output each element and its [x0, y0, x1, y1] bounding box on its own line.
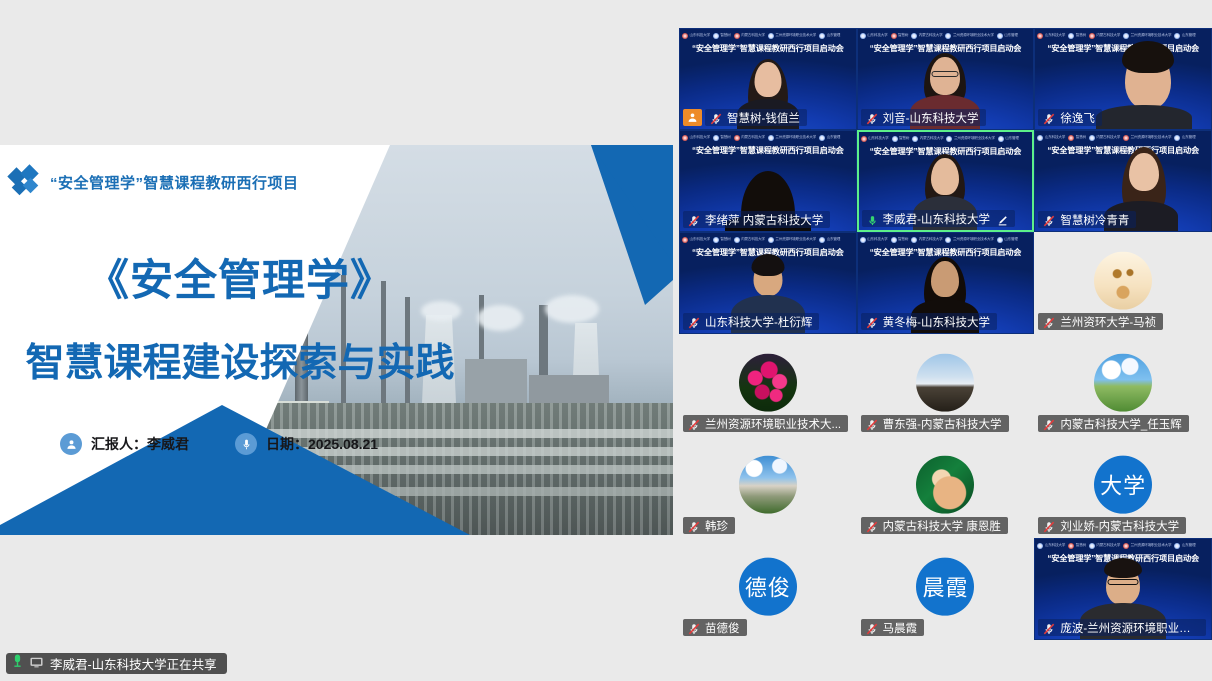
- vb-logo-mark: 山东科技大学: [1037, 33, 1065, 39]
- participant-tile[interactable]: 韩珍: [679, 436, 857, 538]
- participant-name: 李威君-山东科技大学: [883, 211, 990, 227]
- vb-logo-mark: 内蒙古科技大学: [911, 33, 942, 39]
- participant-tile[interactable]: 山东科技大学智慧树内蒙古科技大学兰州资源环境职业技术大学山东管理 “安全管理学”…: [857, 232, 1035, 334]
- vb-logo-mark: 山东科技大学: [861, 136, 889, 142]
- participant-tile[interactable]: 大学 刘业娇-内蒙古科技大学: [1034, 436, 1212, 538]
- participant-name: 徐逸飞: [1060, 110, 1095, 126]
- participant-name-label: 智慧树-钱值兰: [705, 109, 807, 126]
- microphone-muted-icon: [866, 520, 878, 532]
- microphone-muted-icon: [866, 316, 878, 328]
- microphone-muted-icon: [1043, 520, 1055, 532]
- slide-meta-row: 汇报人：李威君 日期：2025.08.21: [60, 433, 378, 455]
- participant-name-label: 山东科技大学-杜衍辉: [683, 313, 819, 330]
- vb-logo-mark: 智慧树: [891, 33, 909, 39]
- participant-tile[interactable]: 山东科技大学智慧树内蒙古科技大学兰州资源环境职业技术大学山东管理 “安全管理学”…: [679, 130, 857, 232]
- host-badge-icon: [683, 109, 702, 126]
- participant-name-label: 庞波-兰州资源环境职业技术大学: [1038, 619, 1206, 636]
- vb-logo-mark: 山东管理: [998, 136, 1019, 142]
- participant-name-label: 刘音-山东科技大学: [861, 109, 986, 126]
- avatar-image: [1094, 354, 1152, 412]
- microphone-muted-icon: [710, 112, 722, 124]
- avatar: 大学: [1094, 456, 1152, 514]
- avatar: [916, 456, 974, 514]
- participant-name: 韩珍: [705, 518, 728, 534]
- microphone-icon: [235, 433, 257, 455]
- participant-name: 曹东强-内蒙古科技大学: [883, 416, 1002, 432]
- avatar: 德俊: [739, 558, 797, 616]
- microphone-muted-icon: [688, 520, 700, 532]
- vb-logo-strip: 山东科技大学智慧树内蒙古科技大学兰州资源环境职业技术大学山东管理: [860, 31, 1032, 40]
- participant-name: 内蒙古科技大学_任玉辉: [1060, 416, 1181, 432]
- vb-logo-mark: 山东管理: [997, 237, 1018, 243]
- participant-tile[interactable]: 兰州资环大学-马祯: [1034, 232, 1212, 334]
- vb-logo-strip: 山东科技大学智慧树内蒙古科技大学兰州资源环境职业技术大学山东管理: [682, 31, 854, 40]
- avatar-image: [916, 456, 974, 514]
- participant-video-grid[interactable]: 山东科技大学智慧树内蒙古科技大学兰州资源环境职业技术大学山东管理 “安全管理学”…: [679, 0, 1212, 681]
- microphone-muted-icon: [866, 112, 878, 124]
- slide-date: 日期：2025.08.21: [235, 433, 378, 455]
- microphone-muted-icon: [1043, 214, 1055, 226]
- microphone-muted-icon: [1043, 316, 1055, 328]
- vb-logo-strip: 山东科技大学智慧树内蒙古科技大学兰州资源环境职业技术大学山东管理: [682, 133, 854, 142]
- avatar: [739, 354, 797, 412]
- vb-logo-mark: 内蒙古科技大学: [734, 135, 765, 141]
- microphone-muted-icon: [688, 316, 700, 328]
- vb-logo-mark: 山东科技大学: [682, 237, 710, 243]
- participant-name: 兰州资源环境职业技术大...: [705, 416, 841, 432]
- vb-logo-mark: 智慧树: [713, 237, 731, 243]
- participant-name-label: 智慧树冷青青: [1038, 211, 1136, 228]
- avatar: [916, 354, 974, 412]
- sharing-status-text: 李威君-山东科技大学正在共享: [50, 654, 217, 673]
- screen-share-icon: [30, 655, 43, 673]
- vb-logo-mark: 山东科技大学: [860, 237, 888, 243]
- vb-logo-mark: 山东管理: [819, 237, 840, 243]
- avatar-image: [916, 354, 974, 412]
- vb-banner-title: “安全管理学”智慧课程教研西行项目启动会: [680, 42, 856, 54]
- participant-tile[interactable]: 山东科技大学智慧树内蒙古科技大学兰州资源环境职业技术大学山东管理 “安全管理学”…: [1034, 538, 1212, 640]
- participant-name: 山东科技大学-杜衍辉: [705, 314, 812, 330]
- sharing-status-bar[interactable]: 李威君-山东科技大学正在共享: [6, 653, 227, 674]
- vb-logo-mark: 智慧树: [891, 237, 909, 243]
- participant-name-label: 徐逸飞: [1038, 109, 1102, 126]
- microphone-muted-icon: [1043, 622, 1055, 634]
- participant-name: 兰州资环大学-马祯: [1060, 314, 1156, 330]
- participant-name-label: 李绪萍 内蒙古科技大学: [683, 211, 830, 228]
- vb-logo-mark: 智慧树: [1068, 135, 1086, 141]
- vb-logo-mark: 内蒙古科技大学: [1089, 33, 1120, 39]
- participant-name-label: 黄冬梅-山东科技大学: [861, 313, 997, 330]
- vb-banner-title: “安全管理学”智慧课程教研西行项目启动会: [1035, 144, 1211, 156]
- vb-logo-mark: 山东管理: [1174, 135, 1195, 141]
- slide-title-block: 《安全管理学》 智慧课程建设探索与实践: [0, 257, 480, 386]
- slide-presenter: 汇报人：李威君: [60, 433, 189, 455]
- vb-logo-mark: 山东管理: [1174, 543, 1195, 549]
- participant-tile[interactable]: 德俊 苗德俊: [679, 538, 857, 640]
- participant-name-label: 韩珍: [683, 517, 735, 534]
- vb-logo-strip: 山东科技大学智慧树内蒙古科技大学兰州资源环境职业技术大学山东管理: [860, 235, 1032, 244]
- vb-logo-mark: 内蒙古科技大学: [1089, 543, 1120, 549]
- participant-name: 内蒙古科技大学 康恩胜: [883, 518, 1001, 534]
- vb-logo-mark: 山东科技大学: [682, 135, 710, 141]
- participant-name-label: 苗德俊: [683, 619, 747, 636]
- participant-name: 李绪萍 内蒙古科技大学: [705, 212, 823, 228]
- recording-indicator-icon: [12, 654, 23, 673]
- participant-name: 庞波-兰州资源环境职业技术大学: [1060, 620, 1199, 636]
- participant-name: 苗德俊: [705, 620, 740, 636]
- participant-name: 黄冬梅-山东科技大学: [883, 314, 990, 330]
- participant-name-label: 兰州资源环境职业技术大...: [683, 415, 848, 432]
- vb-logo-mark: 智慧树: [892, 136, 910, 142]
- participant-name-label: 兰州资环大学-马祯: [1038, 313, 1163, 330]
- vb-logo-mark: 内蒙古科技大学: [911, 237, 942, 243]
- participant-tile[interactable]: 山东科技大学智慧树内蒙古科技大学兰州资源环境职业技术大学山东管理 “安全管理学”…: [1034, 130, 1212, 232]
- participant-name-label: 内蒙古科技大学_任玉辉: [1038, 415, 1188, 432]
- participant-name: 刘音-山东科技大学: [883, 110, 979, 126]
- participant-name: 智慧树-钱值兰: [727, 110, 800, 126]
- diamond-logo-icon: [10, 167, 40, 197]
- annotate-pencil-icon[interactable]: [997, 213, 1008, 224]
- microphone-muted-icon: [688, 622, 700, 634]
- vb-logo-mark: 兰州资源环境职业技术大学: [768, 237, 816, 243]
- vb-logo-mark: 兰州资源环境职业技术大学: [945, 237, 993, 243]
- shared-screen-stage[interactable]: “安全管理学”智慧课程教研西行项目 《安全管理学》 智慧课程建设探索与实践 汇报…: [0, 0, 679, 681]
- microphone-muted-icon: [866, 418, 878, 430]
- participant-tile[interactable]: 山东科技大学智慧树内蒙古科技大学兰州资源环境职业技术大学山东管理 “安全管理学”…: [857, 28, 1035, 130]
- avatar-image: [739, 456, 797, 514]
- vb-logo-mark: 内蒙古科技大学: [734, 33, 765, 39]
- slide-header-text: “安全管理学”智慧课程教研西行项目: [50, 172, 299, 193]
- avatar-image: [1094, 252, 1152, 310]
- participant-tile[interactable]: 内蒙古科技大学_任玉辉: [1034, 334, 1212, 436]
- vb-logo-mark: 智慧树: [1068, 33, 1086, 39]
- vb-logo-strip: 山东科技大学智慧树内蒙古科技大学兰州资源环境职业技术大学山东管理: [1037, 541, 1209, 550]
- avatar: 晨霞: [916, 558, 974, 616]
- participant-name-label: 刘业娇-内蒙古科技大学: [1038, 517, 1186, 534]
- participant-name: 刘业娇-内蒙古科技大学: [1060, 518, 1179, 534]
- participant-tile[interactable]: 曹东强-内蒙古科技大学: [857, 334, 1035, 436]
- vb-logo-mark: 山东科技大学: [860, 33, 888, 39]
- participant-name: 智慧树冷青青: [1060, 212, 1129, 228]
- vb-logo-mark: 山东科技大学: [1037, 543, 1065, 549]
- vb-logo-strip: 山东科技大学智慧树内蒙古科技大学兰州资源环境职业技术大学山东管理: [1037, 133, 1209, 142]
- vb-logo-mark: 兰州资源环境职业技术大学: [946, 136, 994, 142]
- vb-logo-mark: 兰州资源环境职业技术大学: [1123, 543, 1171, 549]
- slide-date-text: 日期：2025.08.21: [266, 434, 378, 454]
- participant-tile[interactable]: 山东科技大学智慧树内蒙古科技大学兰州资源环境职业技术大学山东管理 “安全管理学”…: [857, 130, 1035, 232]
- participant-name-label: 内蒙古科技大学 康恩胜: [861, 517, 1008, 534]
- microphone-muted-icon: [688, 418, 700, 430]
- vb-logo-mark: 山东管理: [997, 33, 1018, 39]
- slide-presenter-text: 汇报人：李威君: [91, 434, 189, 454]
- microphone-muted-icon: [866, 622, 878, 634]
- avatar-image: [739, 354, 797, 412]
- microphone-muted-icon: [1043, 112, 1055, 124]
- participant-tile[interactable]: 兰州资源环境职业技术大...: [679, 334, 857, 436]
- participant-name-label: 马晨霞: [861, 619, 925, 636]
- vb-logo-strip: 山东科技大学智慧树内蒙古科技大学兰州资源环境职业技术大学山东管理: [861, 134, 1031, 143]
- microphone-active-icon: [867, 213, 878, 224]
- vb-logo-mark: 兰州资源环境职业技术大学: [768, 33, 816, 39]
- avatar: [739, 456, 797, 514]
- vb-logo-mark: 兰州资源环境职业技术大学: [945, 33, 993, 39]
- vb-logo-strip: 山东科技大学智慧树内蒙古科技大学兰州资源环境职业技术大学山东管理: [682, 235, 854, 244]
- vb-logo-mark: 山东科技大学: [682, 33, 710, 39]
- participant-tile[interactable]: 内蒙古科技大学 康恩胜: [857, 436, 1035, 538]
- avatar: [1094, 252, 1152, 310]
- person-icon: [60, 433, 82, 455]
- participant-name-label: 曹东强-内蒙古科技大学: [861, 415, 1009, 432]
- avatar-initials: 大学: [1100, 469, 1146, 501]
- participant-tile[interactable]: 山东科技大学智慧树内蒙古科技大学兰州资源环境职业技术大学山东管理 “安全管理学”…: [679, 232, 857, 334]
- shared-slide: “安全管理学”智慧课程教研西行项目 《安全管理学》 智慧课程建设探索与实践 汇报…: [0, 145, 673, 535]
- avatar-initials: 晨霞: [922, 571, 968, 603]
- participant-name-label: 李威君-山东科技大学: [862, 210, 1015, 227]
- vb-logo-strip: 山东科技大学智慧树内蒙古科技大学兰州资源环境职业技术大学山东管理: [1037, 31, 1209, 40]
- participant-tile[interactable]: 山东科技大学智慧树内蒙古科技大学兰州资源环境职业技术大学山东管理 “安全管理学”…: [1034, 28, 1212, 130]
- vb-banner-title: “安全管理学”智慧课程教研西行项目启动会: [680, 144, 856, 156]
- microphone-muted-icon: [688, 214, 700, 226]
- vb-logo-mark: 智慧树: [713, 135, 731, 141]
- vb-logo-mark: 山东科技大学: [1037, 135, 1065, 141]
- vb-logo-mark: 智慧树: [713, 33, 731, 39]
- vb-logo-mark: 内蒙古科技大学: [912, 136, 943, 142]
- slide-title-line1: 《安全管理学》: [0, 257, 480, 307]
- participant-tile[interactable]: 山东科技大学智慧树内蒙古科技大学兰州资源环境职业技术大学山东管理 “安全管理学”…: [679, 28, 857, 130]
- vb-logo-mark: 山东管理: [819, 135, 840, 141]
- slide-header: “安全管理学”智慧课程教研西行项目: [10, 167, 299, 197]
- avatar: [1094, 354, 1152, 412]
- vb-logo-mark: 内蒙古科技大学: [734, 237, 765, 243]
- vb-logo-mark: 内蒙古科技大学: [1089, 135, 1120, 141]
- microphone-muted-icon: [1043, 418, 1055, 430]
- vb-logo-mark: 兰州资源环境职业技术大学: [1123, 135, 1171, 141]
- vb-logo-mark: 兰州资源环境职业技术大学: [768, 135, 816, 141]
- meeting-window: “安全管理学”智慧课程教研西行项目 《安全管理学》 智慧课程建设探索与实践 汇报…: [0, 0, 1212, 681]
- participant-name: 马晨霞: [883, 620, 918, 636]
- vb-logo-mark: 兰州资源环境职业技术大学: [1123, 33, 1171, 39]
- vb-logo-mark: 山东管理: [819, 33, 840, 39]
- vb-logo-mark: 山东管理: [1174, 33, 1195, 39]
- slide-title-line2: 智慧课程建设探索与实践: [0, 341, 480, 386]
- vb-logo-mark: 智慧树: [1068, 543, 1086, 549]
- avatar-initials: 德俊: [745, 571, 791, 603]
- participant-tile[interactable]: 晨霞 马晨霞: [857, 538, 1035, 640]
